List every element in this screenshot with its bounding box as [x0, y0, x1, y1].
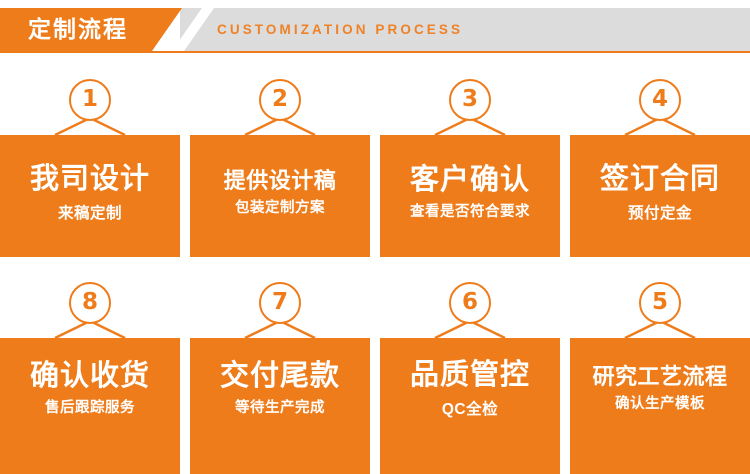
step-subtitle: 查看是否符合要求 [410, 205, 530, 221]
process-step: 6 品质管控 QC全检 [380, 279, 560, 474]
step-title: 提供设计稿 [224, 169, 337, 193]
header-title-cn: 定制流程 [28, 8, 128, 51]
step-subtitle: 来稿定制 [58, 205, 122, 222]
process-step: 8 确认收货 售后跟踪服务 [0, 279, 180, 474]
step-subtitle: 预付定金 [628, 205, 692, 222]
step-number-circle: 2 [259, 79, 301, 121]
header-banner: 定制流程 CUSTOMIZATION PROCESS [0, 8, 750, 53]
step-number-circle: 7 [259, 282, 301, 324]
step-number-circle: 3 [449, 79, 491, 121]
process-row-top: 1 我司设计 来稿定制 2 提供设计稿 包装定制方案 [0, 76, 750, 257]
step-card: 研究工艺流程 确认生产模板 [570, 338, 750, 474]
step-card: 交付尾款 等待生产完成 [190, 338, 370, 474]
process-step: 4 签订合同 预付定金 [570, 76, 750, 257]
step-badge: 2 [190, 76, 370, 135]
step-subtitle: 包装定制方案 [235, 201, 325, 217]
step-card: 提供设计稿 包装定制方案 [190, 135, 370, 257]
step-card: 客户确认 查看是否符合要求 [380, 135, 560, 257]
step-title: 品质管控 [410, 360, 530, 391]
step-badge: 8 [0, 279, 180, 338]
step-number-circle: 8 [69, 282, 111, 324]
header-underline [0, 51, 750, 53]
customization-process-infographic: 定制流程 CUSTOMIZATION PROCESS 1 我司设计 来稿定制 [0, 0, 750, 474]
step-badge: 4 [570, 76, 750, 135]
step-subtitle: 等待生产完成 [235, 401, 325, 417]
step-subtitle: 售后跟踪服务 [45, 401, 135, 417]
step-card: 我司设计 来稿定制 [0, 135, 180, 257]
process-step: 1 我司设计 来稿定制 [0, 76, 180, 257]
process-step: 2 提供设计稿 包装定制方案 [190, 76, 370, 257]
step-number-circle: 6 [449, 282, 491, 324]
step-title: 我司设计 [30, 164, 150, 195]
step-subtitle: QC全检 [442, 401, 498, 418]
step-badge: 1 [0, 76, 180, 135]
process-step: 5 研究工艺流程 确认生产模板 [570, 279, 750, 474]
process-step: 7 交付尾款 等待生产完成 [190, 279, 370, 474]
process-row-bottom: 8 确认收货 售后跟踪服务 7 交付尾款 等待生产完成 [0, 279, 750, 474]
step-badge: 7 [190, 279, 370, 338]
step-subtitle: 确认生产模板 [615, 397, 705, 413]
step-badge: 6 [380, 279, 560, 338]
step-number-circle: 5 [639, 282, 681, 324]
step-title: 签订合同 [600, 164, 720, 195]
step-number-circle: 4 [639, 79, 681, 121]
process-step: 3 客户确认 查看是否符合要求 [380, 76, 560, 257]
step-number-circle: 1 [69, 79, 111, 121]
step-title: 确认收货 [30, 361, 150, 392]
step-badge: 3 [380, 76, 560, 135]
step-title: 客户确认 [410, 165, 530, 196]
step-card: 品质管控 QC全检 [380, 338, 560, 474]
step-title: 研究工艺流程 [592, 365, 727, 389]
step-badge: 5 [570, 279, 750, 338]
step-card: 签订合同 预付定金 [570, 135, 750, 257]
header-title-en: CUSTOMIZATION PROCESS [217, 8, 463, 51]
step-title: 交付尾款 [220, 361, 340, 392]
step-card: 确认收货 售后跟踪服务 [0, 338, 180, 474]
